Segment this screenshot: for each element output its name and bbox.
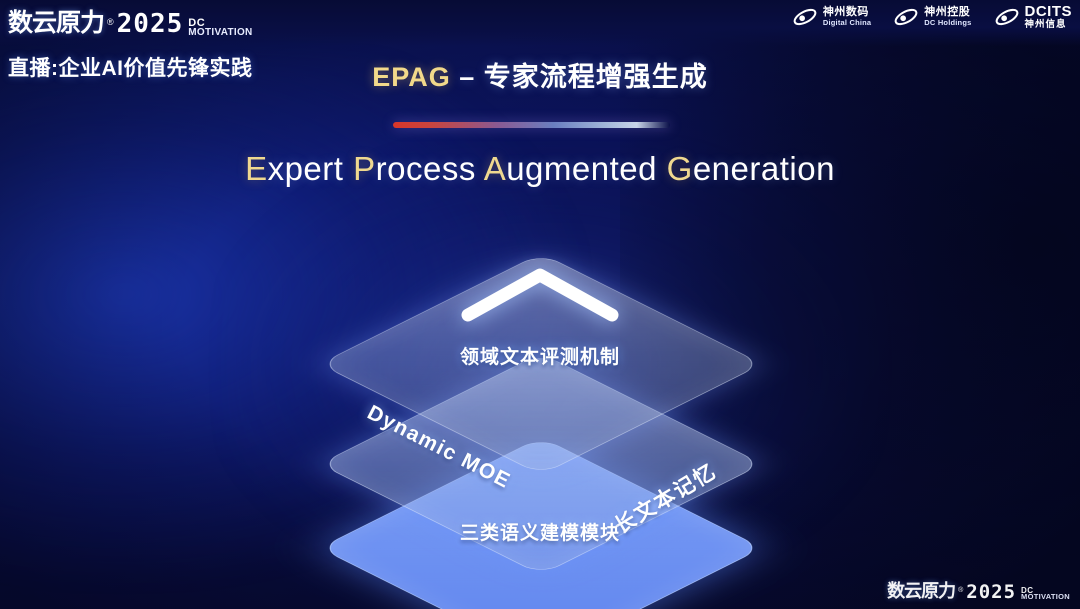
partner-name-cn: 神州信息: [1025, 20, 1073, 30]
partner-logos: 神州数码 Digital China 神州控股 DC Holdings: [792, 4, 1072, 30]
partner-logo-dc-holdings: 神州控股 DC Holdings: [893, 4, 971, 30]
broadcast-label: 直播:企业AI价值先锋实践: [8, 52, 253, 82]
partner-name-en: DC Holdings: [924, 19, 971, 27]
watermark-motivation: MOTIVATION: [1021, 594, 1070, 601]
partner-logo-text: 神州数码 Digital China: [823, 7, 871, 26]
partner-logo-text: 神州控股 DC Holdings: [924, 7, 971, 26]
subtitle-word-process: rocess: [376, 150, 484, 187]
subtitle-word-augmented: ugmented: [506, 150, 666, 187]
watermark-year: 2025: [966, 581, 1016, 603]
footer-watermark: 数云原力 ® 2025 DC MOTIVATION: [887, 577, 1070, 603]
subtitle-cap-e: E: [245, 150, 268, 187]
brand-logo-year: 2025: [117, 9, 184, 39]
brand-logo-cn: 数云原力: [8, 3, 104, 39]
subtitle-cap-p: P: [353, 150, 376, 187]
swirl-icon: [994, 4, 1020, 30]
brand-logo-motivation: MOTIVATION: [188, 28, 252, 37]
watermark-dc-block: DC MOTIVATION: [1021, 587, 1070, 601]
brand-logo: 数云原力 ® 2025 DC MOTIVATION: [8, 3, 253, 39]
swirl-icon: [792, 4, 818, 30]
watermark-registered-mark: ®: [958, 587, 963, 594]
layered-diagram: 领域文本评测机制 Dynamic MOE 长文本记忆 三类语义建模模块: [290, 215, 790, 575]
brand-logo-dc-block: DC MOTIVATION: [188, 18, 252, 37]
partner-logo-digital-china: 神州数码 Digital China: [792, 4, 871, 30]
partner-name-en: Digital China: [823, 19, 871, 27]
swirl-icon: [893, 4, 919, 30]
slide-canvas: 数云原力 ® 2025 DC MOTIVATION 直播:企业AI价值先锋实践 …: [0, 0, 1080, 609]
partner-logo-dcits: DCITS 神州信息: [994, 4, 1073, 30]
subtitle-word-expert: xpert: [268, 150, 354, 187]
watermark-cn: 数云原力: [887, 577, 955, 603]
subtitle-word-generation: eneration: [693, 150, 835, 187]
partner-name-en: DCITS: [1025, 4, 1073, 20]
registered-mark: ®: [107, 17, 114, 27]
subtitle: Expert Process Augmented Generation: [0, 150, 1080, 188]
partner-logo-text: DCITS 神州信息: [1025, 4, 1073, 30]
subtitle-cap-a: A: [484, 150, 507, 187]
gradient-divider: [393, 122, 670, 128]
subtitle-cap-g: G: [667, 150, 693, 187]
